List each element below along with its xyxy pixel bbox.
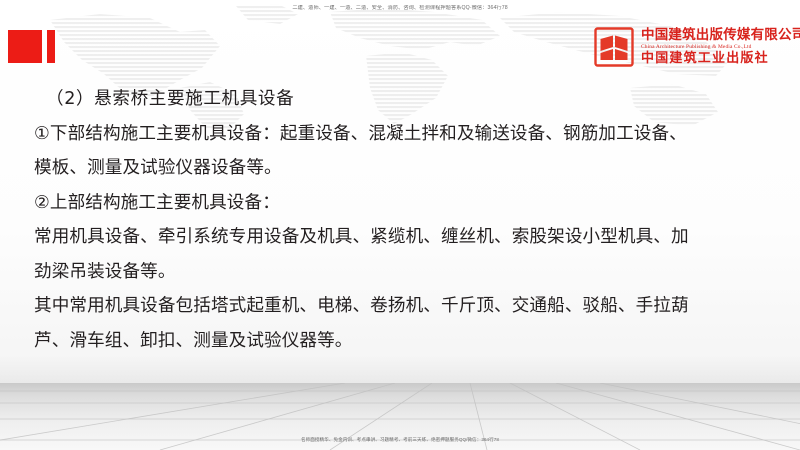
- presentation-slide: 二建、造师、一建、一造、二造、安全、消防、咨询、检测课程押题答系QQ·微信：36…: [0, 0, 800, 450]
- body-line: （2）悬索桥主要施工机具设备: [34, 82, 780, 117]
- top-watermark-text: 二建、造师、一建、一造、二造、安全、消防、咨询、检测课程押题答系QQ·微信：36…: [0, 5, 800, 12]
- publisher-press-cn: 中国建筑工业出版社: [641, 51, 800, 66]
- body-line: ②上部结构施工主要机具设备：: [34, 186, 780, 221]
- publisher-company-cn: 中国建筑出版传媒有限公司: [641, 28, 800, 43]
- publisher-company-en: China Architecture Publishing & Media Co…: [641, 43, 800, 51]
- bottom-watermark-text: 名师面授精华、免金内训、考点串讲、习题精考、考前三天练、绝密押题服务QQ/微信：…: [0, 437, 800, 443]
- body-line: ①下部结构施工主要机具设备：起重设备、混凝土拌和及输送设备、钢筋加工设备、: [34, 117, 780, 152]
- body-line: 劲梁吊装设备等。: [34, 255, 780, 290]
- publisher-logo: 中国建筑出版传媒有限公司 China Architecture Publishi…: [594, 24, 794, 70]
- body-line: 其中常用机具设备包括塔式起重机、电梯、卷扬机、千斤顶、交通船、驳船、手拉葫: [34, 289, 780, 324]
- body-line: 模板、测量及试验仪器设备等。: [34, 151, 780, 186]
- publisher-emblem-icon: [594, 27, 634, 67]
- accent-block-small: [47, 30, 55, 63]
- body-line: 芦、滑车组、卸扣、测量及试验仪器等。: [34, 324, 780, 359]
- accent-block-large: [8, 30, 42, 63]
- floor-shadow: [0, 355, 800, 383]
- slide-body-text: （2）悬索桥主要施工机具设备 ①下部结构施工主要机具设备：起重设备、混凝土拌和及…: [34, 82, 780, 358]
- publisher-logo-text: 中国建筑出版传媒有限公司 China Architecture Publishi…: [641, 28, 800, 66]
- body-line: 常用机具设备、牵引系统专用设备及机具、紧缆机、缠丝机、索股架设小型机具、加: [34, 220, 780, 255]
